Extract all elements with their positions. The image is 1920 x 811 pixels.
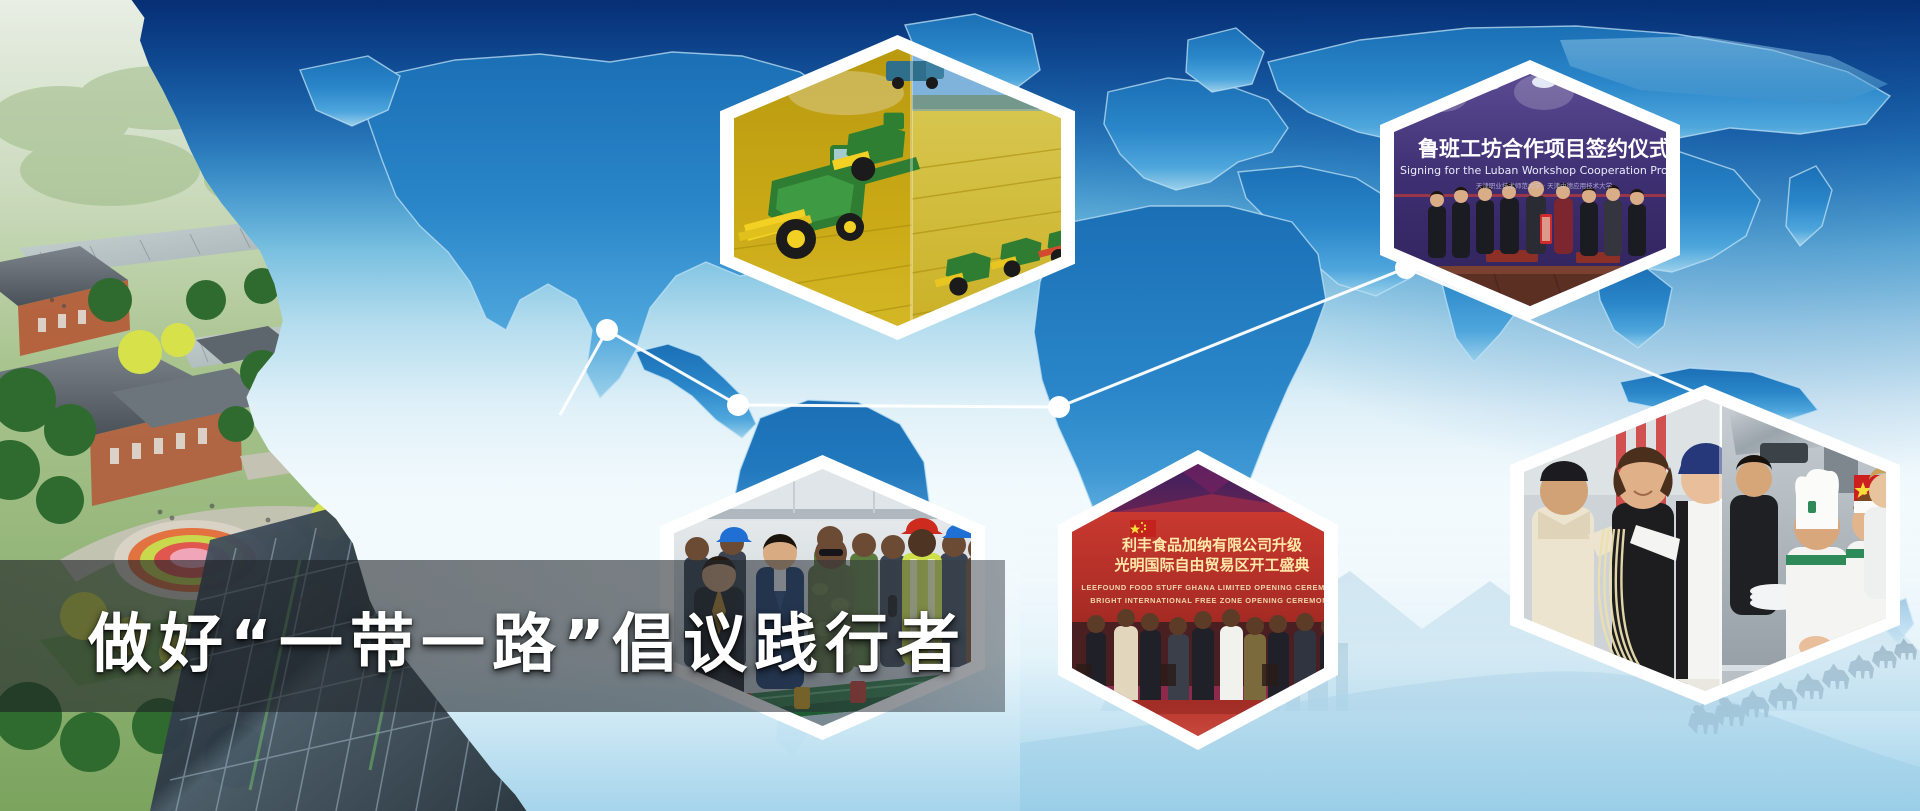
- china-flag-icon: [1130, 520, 1156, 537]
- agriculture-scene: [734, 49, 1061, 326]
- luban-caption-cn: 鲁班工坊合作项目签约仪式: [1418, 137, 1666, 161]
- luban-signing-scene: 鲁班工坊合作项目签约仪式 Signing for the Luban Works…: [1394, 74, 1666, 306]
- ghana-caption-en-2: BRIGHT INTERNATIONAL FREE ZONE OPENING C…: [1090, 596, 1324, 605]
- ghana-caption-cn-2: 光明国际自由贸易区开工盛典: [1113, 556, 1309, 574]
- signing-delegates: [1428, 181, 1646, 258]
- node-atlantic: [727, 394, 749, 416]
- node-americas: [596, 319, 618, 341]
- svg-text:天津职业技术师范大学 · 天津中德应用技术大学: 天津职业技术师范大学 · 天津中德应用技术大学: [1476, 181, 1613, 190]
- ghana-caption-cn-1: 利丰食品加纳有限公司升级: [1122, 536, 1303, 554]
- page-title: 做好“一带一路”倡议践行者: [88, 575, 988, 703]
- ghana-opening-scene: 利丰食品加纳有限公司升级 光明国际自由贸易区开工盛典 LEEFOUND FOOD…: [1072, 464, 1324, 736]
- ghana-caption-en-1: LEEFOUND FOOD STUFF GHANA LIMITED OPENIN…: [1081, 583, 1324, 592]
- banner-root: 鲁班工坊合作项目签约仪式 Signing for the Luban Works…: [0, 0, 1920, 811]
- luban-caption-en: Signing for the Luban Workshop Cooperati…: [1400, 164, 1666, 177]
- node-africa-w: [1048, 396, 1070, 418]
- culinary-training-scene: [1524, 399, 1886, 691]
